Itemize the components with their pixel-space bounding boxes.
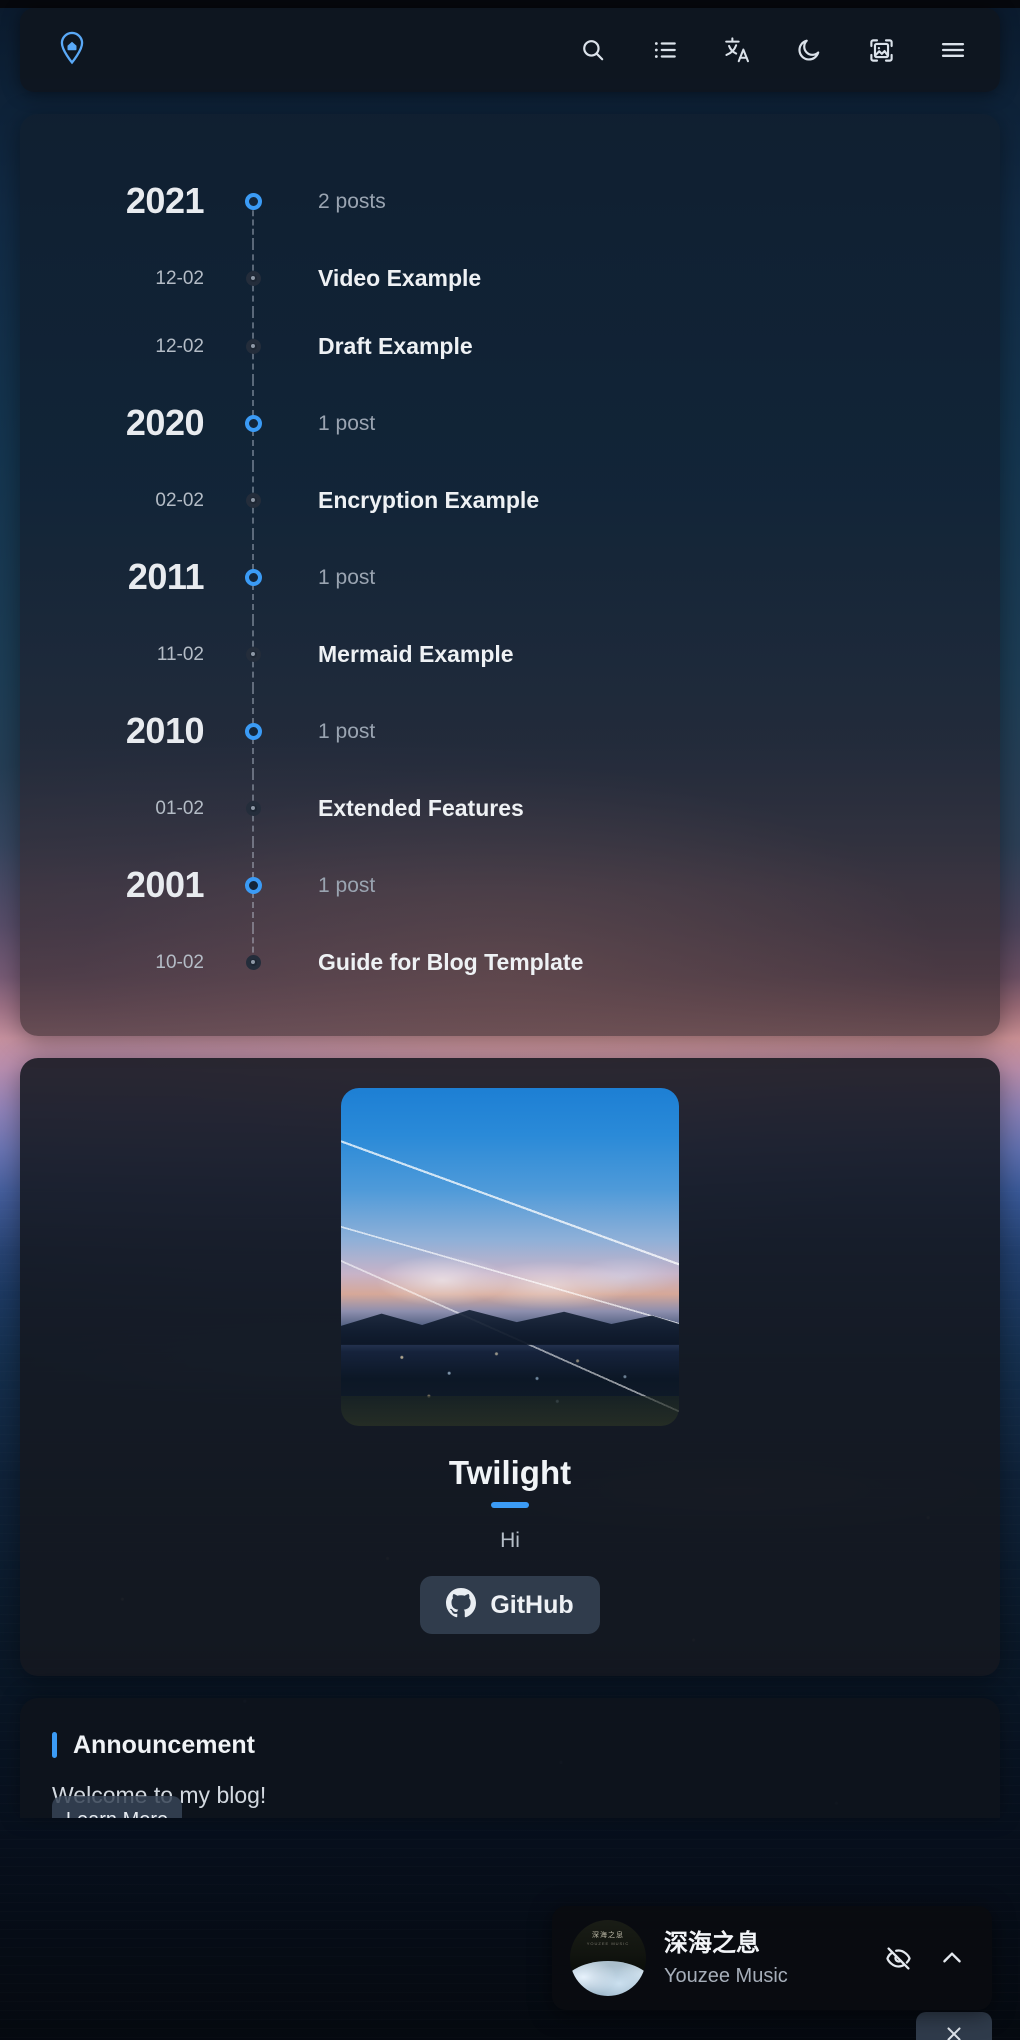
timeline-post-date: 02-02 [20, 491, 204, 510]
timeline-date-cell: 10-02 [20, 953, 230, 972]
timeline-date-cell: 02-02 [20, 491, 230, 510]
timeline-post-count: 1 post [318, 875, 375, 896]
home-pin-icon [57, 31, 87, 70]
timeline-year-row: 2021 2 posts [20, 158, 1000, 244]
timeline-post-node [246, 339, 261, 354]
timeline-axis [230, 158, 276, 244]
timeline-post-title[interactable]: Mermaid Example [318, 643, 514, 666]
announcement-header: Announcement [52, 1732, 968, 1758]
announcement-title: Announcement [73, 1733, 255, 1758]
timeline-post-node [246, 801, 261, 816]
timeline-title-cell: Extended Features [276, 797, 524, 820]
github-link-button[interactable]: GitHub [420, 1576, 599, 1634]
timeline-year-cell: 2020 [20, 405, 230, 441]
album-cover-wave [570, 1961, 646, 1996]
timeline-date-cell: 12-02 [20, 269, 230, 288]
album-cover-subtitle: YOUZEE MUSIC [570, 1941, 646, 1946]
timeline-axis [230, 620, 276, 688]
timeline-post-row[interactable]: 11-02 Mermaid Example [20, 620, 1000, 688]
page-root: 2021 2 posts 12-02 Video Example 12-02 D… [0, 8, 1020, 2040]
timeline-axis [230, 312, 276, 380]
profile-card: Twilight Hi GitHub [20, 1058, 1000, 1676]
timeline-year-label: 2010 [20, 713, 204, 749]
timeline-axis [230, 842, 276, 928]
timeline-year-label: 2001 [20, 867, 204, 903]
timeline-axis [230, 380, 276, 466]
chevron-up-icon[interactable] [934, 1940, 970, 1976]
music-track-title: 深海之息 [664, 1930, 862, 1958]
timeline-post-title[interactable]: Video Example [318, 267, 481, 290]
timeline-count-cell: 1 post [276, 413, 375, 434]
timeline-axis [230, 774, 276, 842]
timeline-count-cell: 2 posts [276, 191, 386, 212]
timeline-count-cell: 1 post [276, 721, 375, 742]
timeline-post-row[interactable]: 12-02 Draft Example [20, 312, 1000, 380]
timeline-axis [230, 688, 276, 774]
timeline-post-date: 11-02 [20, 645, 204, 664]
announcement-accent-bar [52, 1732, 57, 1758]
timeline-year-node [245, 723, 262, 740]
timeline-year-node [245, 415, 262, 432]
close-icon[interactable] [916, 2012, 992, 2040]
timeline-year-label: 2011 [20, 559, 204, 595]
timeline-axis [230, 534, 276, 620]
timeline-post-row[interactable]: 12-02 Video Example [20, 244, 1000, 312]
github-icon [446, 1588, 476, 1623]
timeline-post-date: 01-02 [20, 799, 204, 818]
timeline-year-node [245, 193, 262, 210]
timeline-post-count: 1 post [318, 567, 375, 588]
profile-name: Twilight [449, 1456, 571, 1489]
announcement-body: Welcome to my blog! [52, 1784, 968, 1807]
timeline-post-row[interactable]: 10-02 Guide for Blog Template [20, 928, 1000, 996]
timeline-post-node [246, 955, 261, 970]
avatar-clouds [341, 1250, 679, 1311]
timeline-year-cell: 2010 [20, 713, 230, 749]
timeline-post-node [246, 271, 261, 286]
announcement-learn-more-button[interactable]: Learn More [52, 1796, 182, 1818]
timeline-date-cell: 11-02 [20, 645, 230, 664]
timeline-title-cell: Mermaid Example [276, 643, 514, 666]
timeline-title-cell: Video Example [276, 267, 481, 290]
timeline-post-date: 10-02 [20, 953, 204, 972]
album-cover-title: 深海之息 [570, 1930, 646, 1940]
timeline-year-row: 2001 1 post [20, 842, 1000, 928]
timeline-post-date: 12-02 [20, 337, 204, 356]
music-player: 深海之息 YOUZEE MUSIC 深海之息 Youzee Music [552, 1906, 992, 2010]
timeline-year-cell: 2011 [20, 559, 230, 595]
timeline-post-count: 1 post [318, 721, 375, 742]
moon-icon[interactable] [792, 33, 826, 67]
timeline-post-title[interactable]: Guide for Blog Template [318, 951, 583, 974]
timeline-post-node [246, 647, 261, 662]
timeline-post-title[interactable]: Extended Features [318, 797, 524, 820]
timeline-axis [230, 928, 276, 996]
music-metadata: 深海之息 Youzee Music [664, 1930, 862, 1987]
timeline-year-node [245, 569, 262, 586]
timeline-date-cell: 12-02 [20, 337, 230, 356]
timeline-post-row[interactable]: 02-02 Encryption Example [20, 466, 1000, 534]
timeline-title-cell: Guide for Blog Template [276, 951, 583, 974]
site-logo-button[interactable] [50, 28, 94, 72]
timeline-year-node [245, 877, 262, 894]
timeline-axis [230, 244, 276, 312]
announcement-card: Announcement Welcome to my blog! Learn M… [20, 1698, 1000, 1818]
music-track-artist: Youzee Music [664, 1966, 862, 1986]
profile-name-underline [491, 1502, 529, 1508]
avatar-foreground [341, 1396, 679, 1426]
timeline-year-row: 2011 1 post [20, 534, 1000, 620]
timeline-post-count: 1 post [318, 413, 375, 434]
archive-timeline-card: 2021 2 posts 12-02 Video Example 12-02 D… [20, 114, 1000, 1036]
timeline-year-label: 2021 [20, 183, 204, 219]
timeline-post-count: 2 posts [318, 191, 386, 212]
timeline-year-cell: 2021 [20, 183, 230, 219]
search-icon[interactable] [576, 33, 610, 67]
timeline-post-title[interactable]: Draft Example [318, 335, 473, 358]
timeline-title-cell: Encryption Example [276, 489, 539, 512]
profile-description: Hi [500, 1530, 520, 1551]
eye-off-icon[interactable] [880, 1940, 916, 1976]
timeline-year-row: 2020 1 post [20, 380, 1000, 466]
timeline-title-cell: Draft Example [276, 335, 473, 358]
timeline-year-cell: 2001 [20, 867, 230, 903]
timeline-post-row[interactable]: 01-02 Extended Features [20, 774, 1000, 842]
navbar-actions [576, 33, 970, 67]
twilight-sky-avatar[interactable] [341, 1088, 679, 1426]
github-link-label: GitHub [490, 1593, 573, 1618]
image-frame-icon[interactable] [864, 33, 898, 67]
timeline-post-date: 12-02 [20, 269, 204, 288]
translate-icon[interactable] [720, 33, 754, 67]
list-icon[interactable] [648, 33, 682, 67]
timeline-count-cell: 1 post [276, 875, 375, 896]
timeline-count-cell: 1 post [276, 567, 375, 588]
timeline-date-cell: 01-02 [20, 799, 230, 818]
timeline-year-label: 2020 [20, 405, 204, 441]
hamburger-icon[interactable] [936, 33, 970, 67]
navbar [20, 8, 1000, 92]
timeline-post-title[interactable]: Encryption Example [318, 489, 539, 512]
timeline-axis [230, 466, 276, 534]
album-cover-icon[interactable]: 深海之息 YOUZEE MUSIC [570, 1920, 646, 1996]
timeline-post-node [246, 493, 261, 508]
timeline-year-row: 2010 1 post [20, 688, 1000, 774]
